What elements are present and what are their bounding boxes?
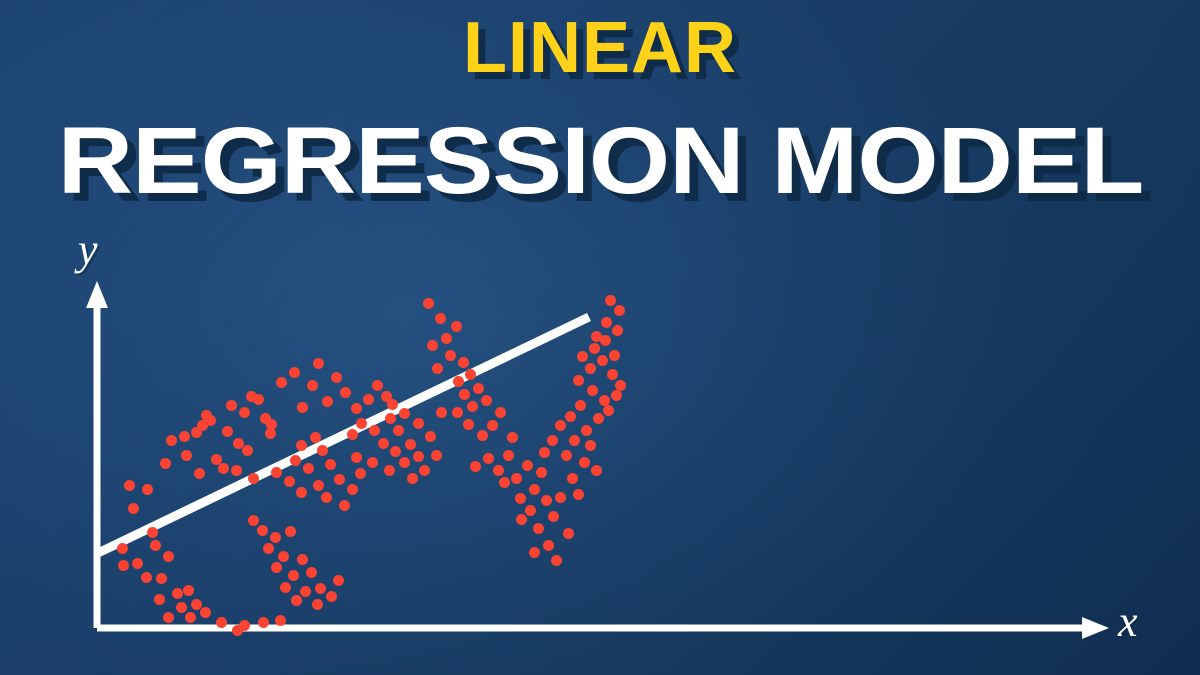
scatter-point — [312, 599, 323, 610]
x-axis-label: x — [1118, 600, 1138, 644]
scatter-point — [265, 428, 276, 439]
scatter-point — [611, 390, 622, 401]
scatter-point — [118, 560, 129, 571]
scatter-point — [351, 452, 362, 463]
scatter-point — [166, 435, 177, 446]
scatter-point — [499, 477, 510, 488]
scatter-point — [487, 420, 498, 431]
scatter-point — [263, 543, 274, 554]
scatter-point — [355, 468, 366, 479]
scatter-point — [231, 465, 242, 476]
poster-canvas: LINEAR REGRESSION MODEL y x — [0, 0, 1200, 675]
scatter-point — [257, 525, 268, 536]
scatter-point — [322, 396, 333, 407]
scatter-point — [541, 495, 552, 506]
scatter-point — [128, 503, 139, 514]
scatter-point — [172, 588, 183, 599]
scatter-point — [585, 363, 596, 374]
scatter-point — [612, 325, 623, 336]
scatter-point — [599, 395, 610, 406]
scatter-point — [285, 526, 296, 537]
scatter-point — [548, 511, 559, 522]
scatter-point — [326, 591, 337, 602]
scatter-point — [296, 440, 307, 451]
scatter-point — [347, 429, 358, 440]
scatter-point — [303, 463, 314, 474]
scatter-point — [271, 467, 282, 478]
scatter-point — [579, 457, 590, 468]
scatter-point — [163, 612, 174, 623]
scatter-point — [200, 607, 211, 618]
scatter-point — [197, 420, 208, 431]
scatter-point — [351, 403, 362, 414]
scatter-point — [194, 468, 205, 479]
scatter-point — [340, 387, 351, 398]
scatter-point — [258, 617, 269, 628]
scatter-point — [575, 400, 586, 411]
scatter-point — [315, 583, 326, 594]
scatter-point — [288, 570, 299, 581]
scatter-point — [407, 473, 418, 484]
scatter-point — [156, 573, 167, 584]
scatter-point — [325, 459, 336, 470]
scatter-point — [248, 515, 259, 526]
scatter-point — [239, 407, 250, 418]
scatter-point — [536, 467, 547, 478]
scatter-point — [495, 407, 506, 418]
scatter-point — [179, 431, 190, 442]
scatter-point — [529, 484, 540, 495]
scatter-point — [300, 586, 311, 597]
scatter-point — [141, 572, 152, 583]
scatter-point — [593, 413, 604, 424]
scatter-point — [533, 523, 544, 534]
scatter-point — [399, 457, 410, 468]
scatter-point — [605, 295, 616, 306]
scatter-point — [393, 425, 404, 436]
scatter-point — [435, 313, 446, 324]
scatter-point — [297, 402, 308, 413]
scatter-point — [248, 473, 259, 484]
scatter-point — [539, 447, 550, 458]
scatter-point — [481, 395, 492, 406]
scatter-point — [296, 487, 307, 498]
scatter-point — [573, 489, 584, 500]
scatter-point — [423, 298, 434, 309]
scatter-point — [163, 551, 174, 562]
scatter-point — [573, 375, 584, 386]
scatter-point — [181, 450, 192, 461]
scatter-point — [307, 380, 318, 391]
scatter-point — [516, 514, 527, 525]
scatter-point — [483, 453, 494, 464]
scatter-point — [477, 430, 488, 441]
scatter-point — [242, 445, 253, 456]
scatter-point — [522, 460, 533, 471]
scatter-point — [459, 389, 470, 400]
scatter-point — [569, 435, 580, 446]
scatter-point — [321, 492, 332, 503]
scatter-point — [270, 532, 281, 543]
scatter-point — [297, 554, 308, 565]
scatter-point — [280, 582, 291, 593]
scatter-point — [284, 476, 295, 487]
scatter-point — [615, 380, 626, 391]
scatter-point — [291, 595, 302, 606]
scatter-point — [563, 528, 574, 539]
scatter-point — [334, 474, 345, 485]
scatter-point — [405, 439, 416, 450]
scatter-point — [458, 357, 469, 368]
scatter-point — [185, 612, 196, 623]
scatter-point — [551, 555, 562, 566]
scatter-point — [547, 435, 558, 446]
scatter-point — [436, 407, 447, 418]
scatter-point — [427, 340, 438, 351]
scatter-point — [276, 377, 287, 388]
scatter-point — [470, 461, 481, 472]
scatter-point — [356, 418, 367, 429]
scatter-point — [432, 363, 443, 374]
scatter-point — [493, 465, 504, 476]
scatter-point — [385, 413, 396, 424]
scatter-point — [597, 355, 608, 366]
scatter-point — [306, 567, 317, 578]
scatter-point — [607, 369, 618, 380]
scatter-point — [413, 451, 424, 462]
scatter-point — [372, 380, 383, 391]
scatter-point — [117, 543, 128, 554]
scatter-point — [581, 425, 592, 436]
scatter-point — [555, 420, 566, 431]
scatter-point — [289, 367, 300, 378]
scatter-point — [384, 465, 395, 476]
scatter-plot: y x — [0, 0, 1200, 675]
scatter-point — [160, 458, 171, 469]
scatter-point — [507, 432, 518, 443]
scatter-point — [441, 333, 452, 344]
scatter-point — [367, 457, 378, 468]
scatter-point — [591, 331, 602, 342]
scatter-point — [445, 350, 456, 361]
scatter-points-layer — [0, 0, 1200, 675]
scatter-point — [525, 505, 536, 516]
scatter-point — [290, 455, 301, 466]
scatter-point — [399, 408, 410, 419]
scatter-point — [150, 540, 161, 551]
scatter-point — [339, 500, 350, 511]
scatter-point — [124, 480, 135, 491]
scatter-point — [253, 394, 264, 405]
scatter-point — [601, 317, 612, 328]
scatter-point — [278, 551, 289, 562]
scatter-point — [614, 305, 625, 316]
scatter-point — [452, 407, 463, 418]
scatter-point — [271, 562, 282, 573]
scatter-point — [216, 617, 227, 628]
scatter-point — [591, 465, 602, 476]
scatter-point — [142, 484, 153, 495]
scatter-point — [609, 350, 620, 361]
scatter-point — [232, 625, 243, 636]
scatter-point — [511, 473, 522, 484]
scatter-point — [425, 431, 436, 442]
scatter-point — [589, 343, 600, 354]
scatter-point — [201, 410, 212, 421]
scatter-point — [603, 405, 614, 416]
scatter-point — [555, 492, 566, 503]
scatter-point — [183, 585, 194, 596]
scatter-point — [451, 321, 462, 332]
scatter-point — [515, 493, 526, 504]
scatter-point — [132, 558, 143, 569]
scatter-point — [275, 615, 286, 626]
scatter-point — [585, 440, 596, 451]
scatter-point — [565, 411, 576, 422]
scatter-point — [467, 401, 478, 412]
scatter-point — [317, 445, 328, 456]
scatter-point — [577, 351, 588, 362]
scatter-point — [369, 425, 380, 436]
scatter-point — [419, 465, 430, 476]
scatter-point — [390, 446, 401, 457]
scatter-point — [529, 547, 540, 558]
scatter-point — [363, 394, 374, 405]
scatter-point — [587, 385, 598, 396]
scatter-point — [567, 473, 578, 484]
scatter-point — [313, 480, 324, 491]
scatter-point — [378, 438, 389, 449]
scatter-point — [463, 419, 474, 430]
scatter-point — [453, 376, 464, 387]
scatter-point — [561, 450, 572, 461]
scatter-point — [347, 484, 358, 495]
scatter-point — [310, 432, 321, 443]
scatter-point — [465, 369, 476, 380]
scatter-point — [473, 383, 484, 394]
scatter-point — [154, 594, 165, 605]
scatter-point — [222, 426, 233, 437]
scatter-point — [191, 599, 202, 610]
y-axis-label: y — [78, 228, 98, 272]
scatter-point — [543, 540, 554, 551]
scatter-point — [413, 418, 424, 429]
scatter-point — [147, 527, 158, 538]
scatter-point — [331, 372, 342, 383]
scatter-point — [503, 450, 514, 461]
scatter-point — [431, 450, 442, 461]
scatter-point — [313, 358, 324, 369]
scatter-point — [218, 463, 229, 474]
scatter-point — [176, 602, 187, 613]
scatter-point — [333, 575, 344, 586]
scatter-point — [226, 400, 237, 411]
scatter-point — [387, 399, 398, 410]
